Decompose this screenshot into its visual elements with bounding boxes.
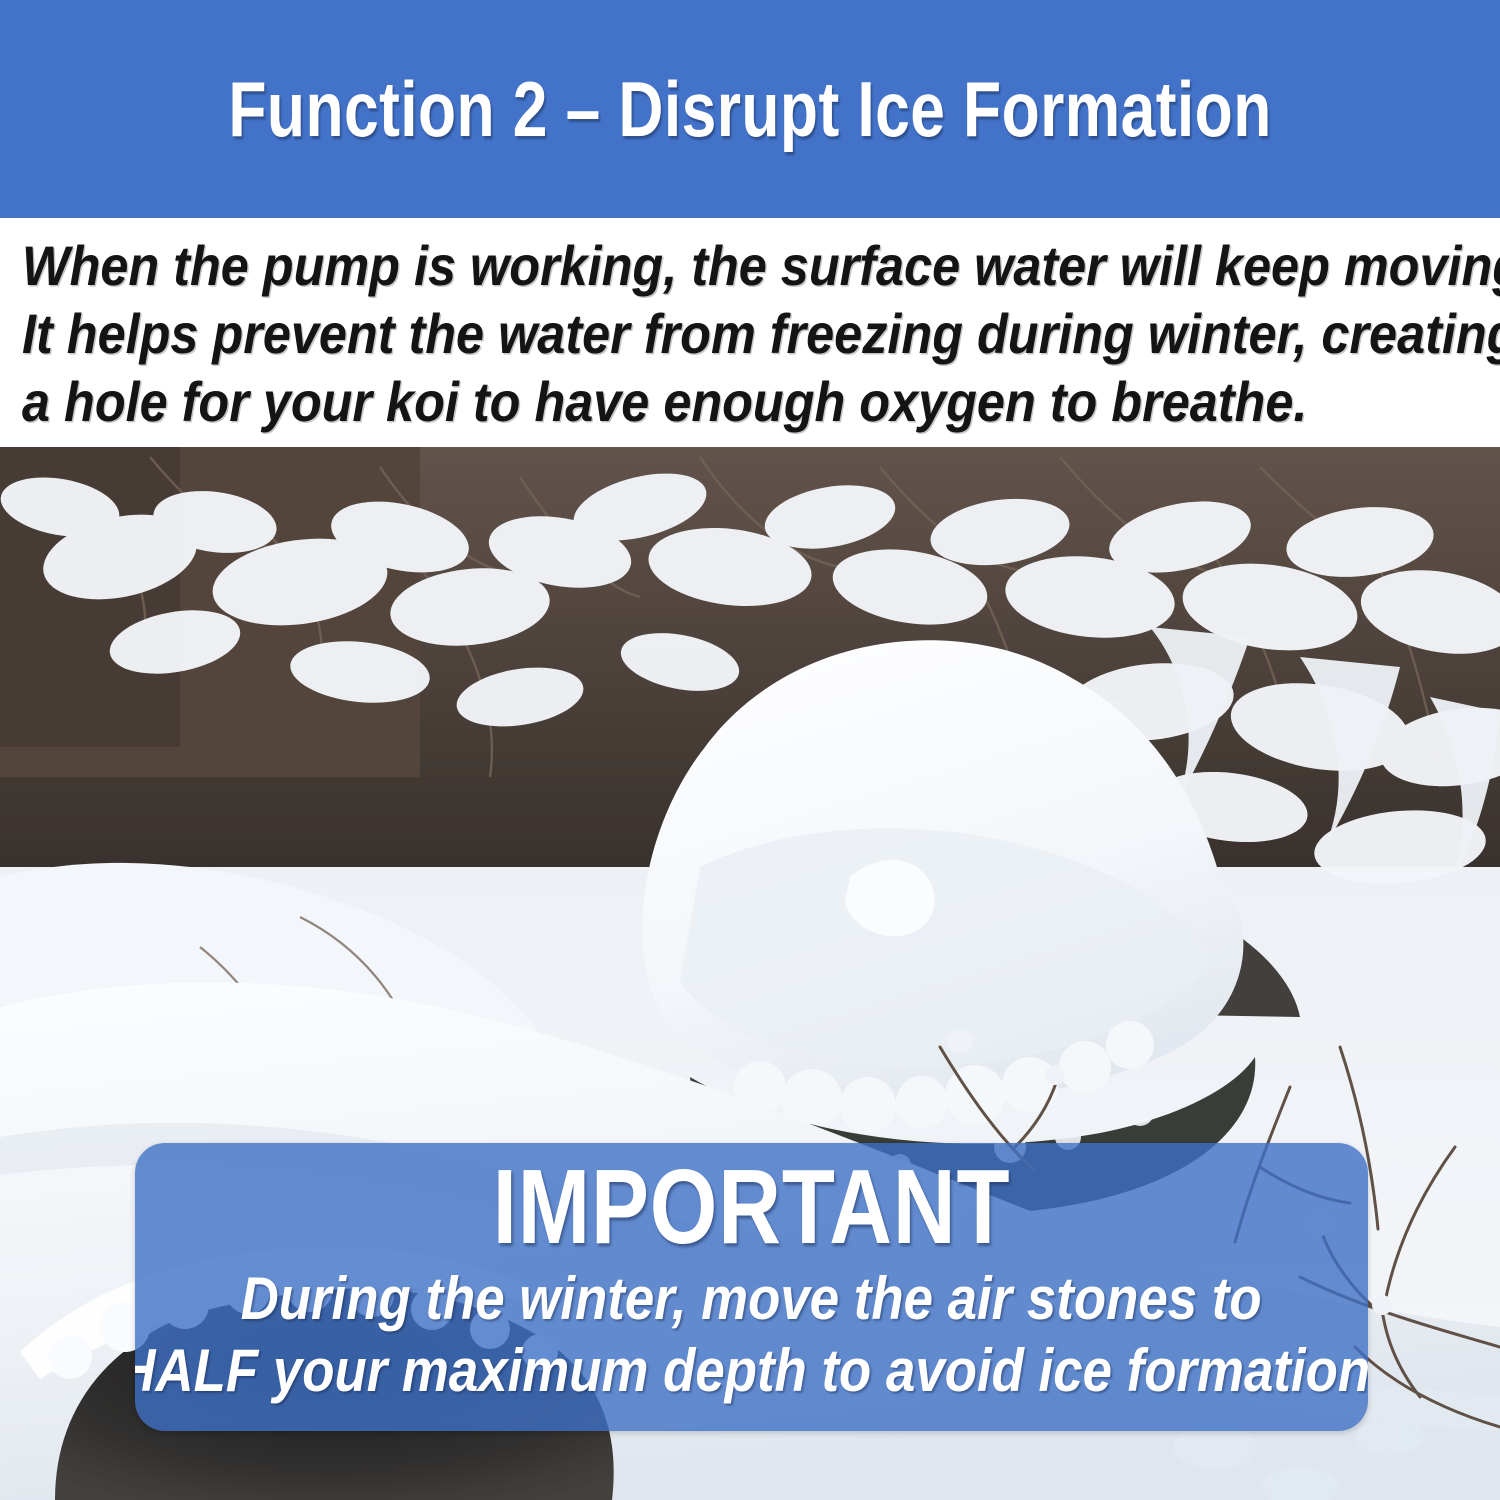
important-banner: IMPORTANT During the winter, move the ai… [135, 1143, 1368, 1431]
infographic-page: Function 2 – Disrupt Ice Formation When … [0, 0, 1500, 1500]
description-line-1: When the pump is working, the surface wa… [22, 232, 1332, 300]
page-title: Function 2 – Disrupt Ice Formation [228, 70, 1271, 148]
important-line-2: HALF your maximum depth to avoid ice for… [135, 1335, 1368, 1407]
description-line-3: a hole for your koi to have enough oxyge… [22, 368, 1332, 436]
important-line-1: During the winter, move the air stones t… [241, 1263, 1262, 1335]
description-block: When the pump is working, the surface wa… [0, 218, 1500, 447]
description-line-2: It helps prevent the water from freezing… [22, 300, 1332, 368]
header-band: Function 2 – Disrupt Ice Formation [0, 0, 1500, 218]
important-heading: IMPORTANT [493, 1151, 1011, 1263]
